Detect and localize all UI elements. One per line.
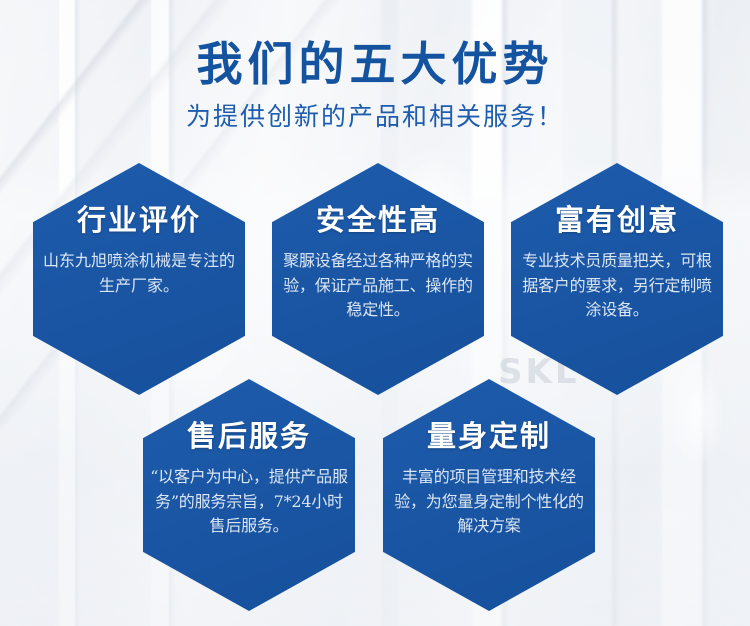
advantage-body-3: 专业技术员质量把关，可根据客户的要求，另行定制喷涂设备。 [513, 237, 721, 323]
advantage-card-1[interactable]: 行业评价 山东九旭喷涂机械是专注的生产厂家。 [33, 163, 245, 395]
advantage-title-2: 安全性高 [316, 163, 440, 237]
advantage-body-1: 山东九旭喷涂机械是专注的生产厂家。 [35, 237, 243, 299]
advantage-body-2: 聚脲设备经过各种严格的实验，保证产品施工、操作的稳定性。 [274, 237, 482, 323]
page-title: 我们的五大优势 [0, 0, 750, 90]
advantages-poster: SKL 我们的五大优势 为提供创新的产品和相关服务！ 行业评价 山东九旭喷涂机械… [0, 0, 750, 626]
poster-header: 我们的五大优势 为提供创新的产品和相关服务！ [0, 0, 750, 130]
advantage-card-4[interactable]: 售后服务 “以客户为中心，提供产品服务”的服务宗旨，7*24小时售后服务。 [143, 379, 355, 611]
advantage-body-5: 丰富的项目管理和技术经验，为您量身定制个性化的解决方案 [385, 453, 593, 539]
advantage-body-4: “以客户为中心，提供产品服务”的服务宗旨，7*24小时售后服务。 [145, 453, 353, 539]
advantage-title-4: 售后服务 [187, 379, 311, 453]
page-subtitle: 为提供创新的产品和相关服务！ [0, 90, 750, 131]
advantage-title-1: 行业评价 [77, 163, 201, 237]
advantage-card-2[interactable]: 安全性高 聚脲设备经过各种严格的实验，保证产品施工、操作的稳定性。 [272, 163, 484, 395]
advantage-card-5[interactable]: 量身定制 丰富的项目管理和技术经验，为您量身定制个性化的解决方案 [383, 379, 595, 611]
advantage-title-3: 富有创意 [555, 163, 679, 237]
